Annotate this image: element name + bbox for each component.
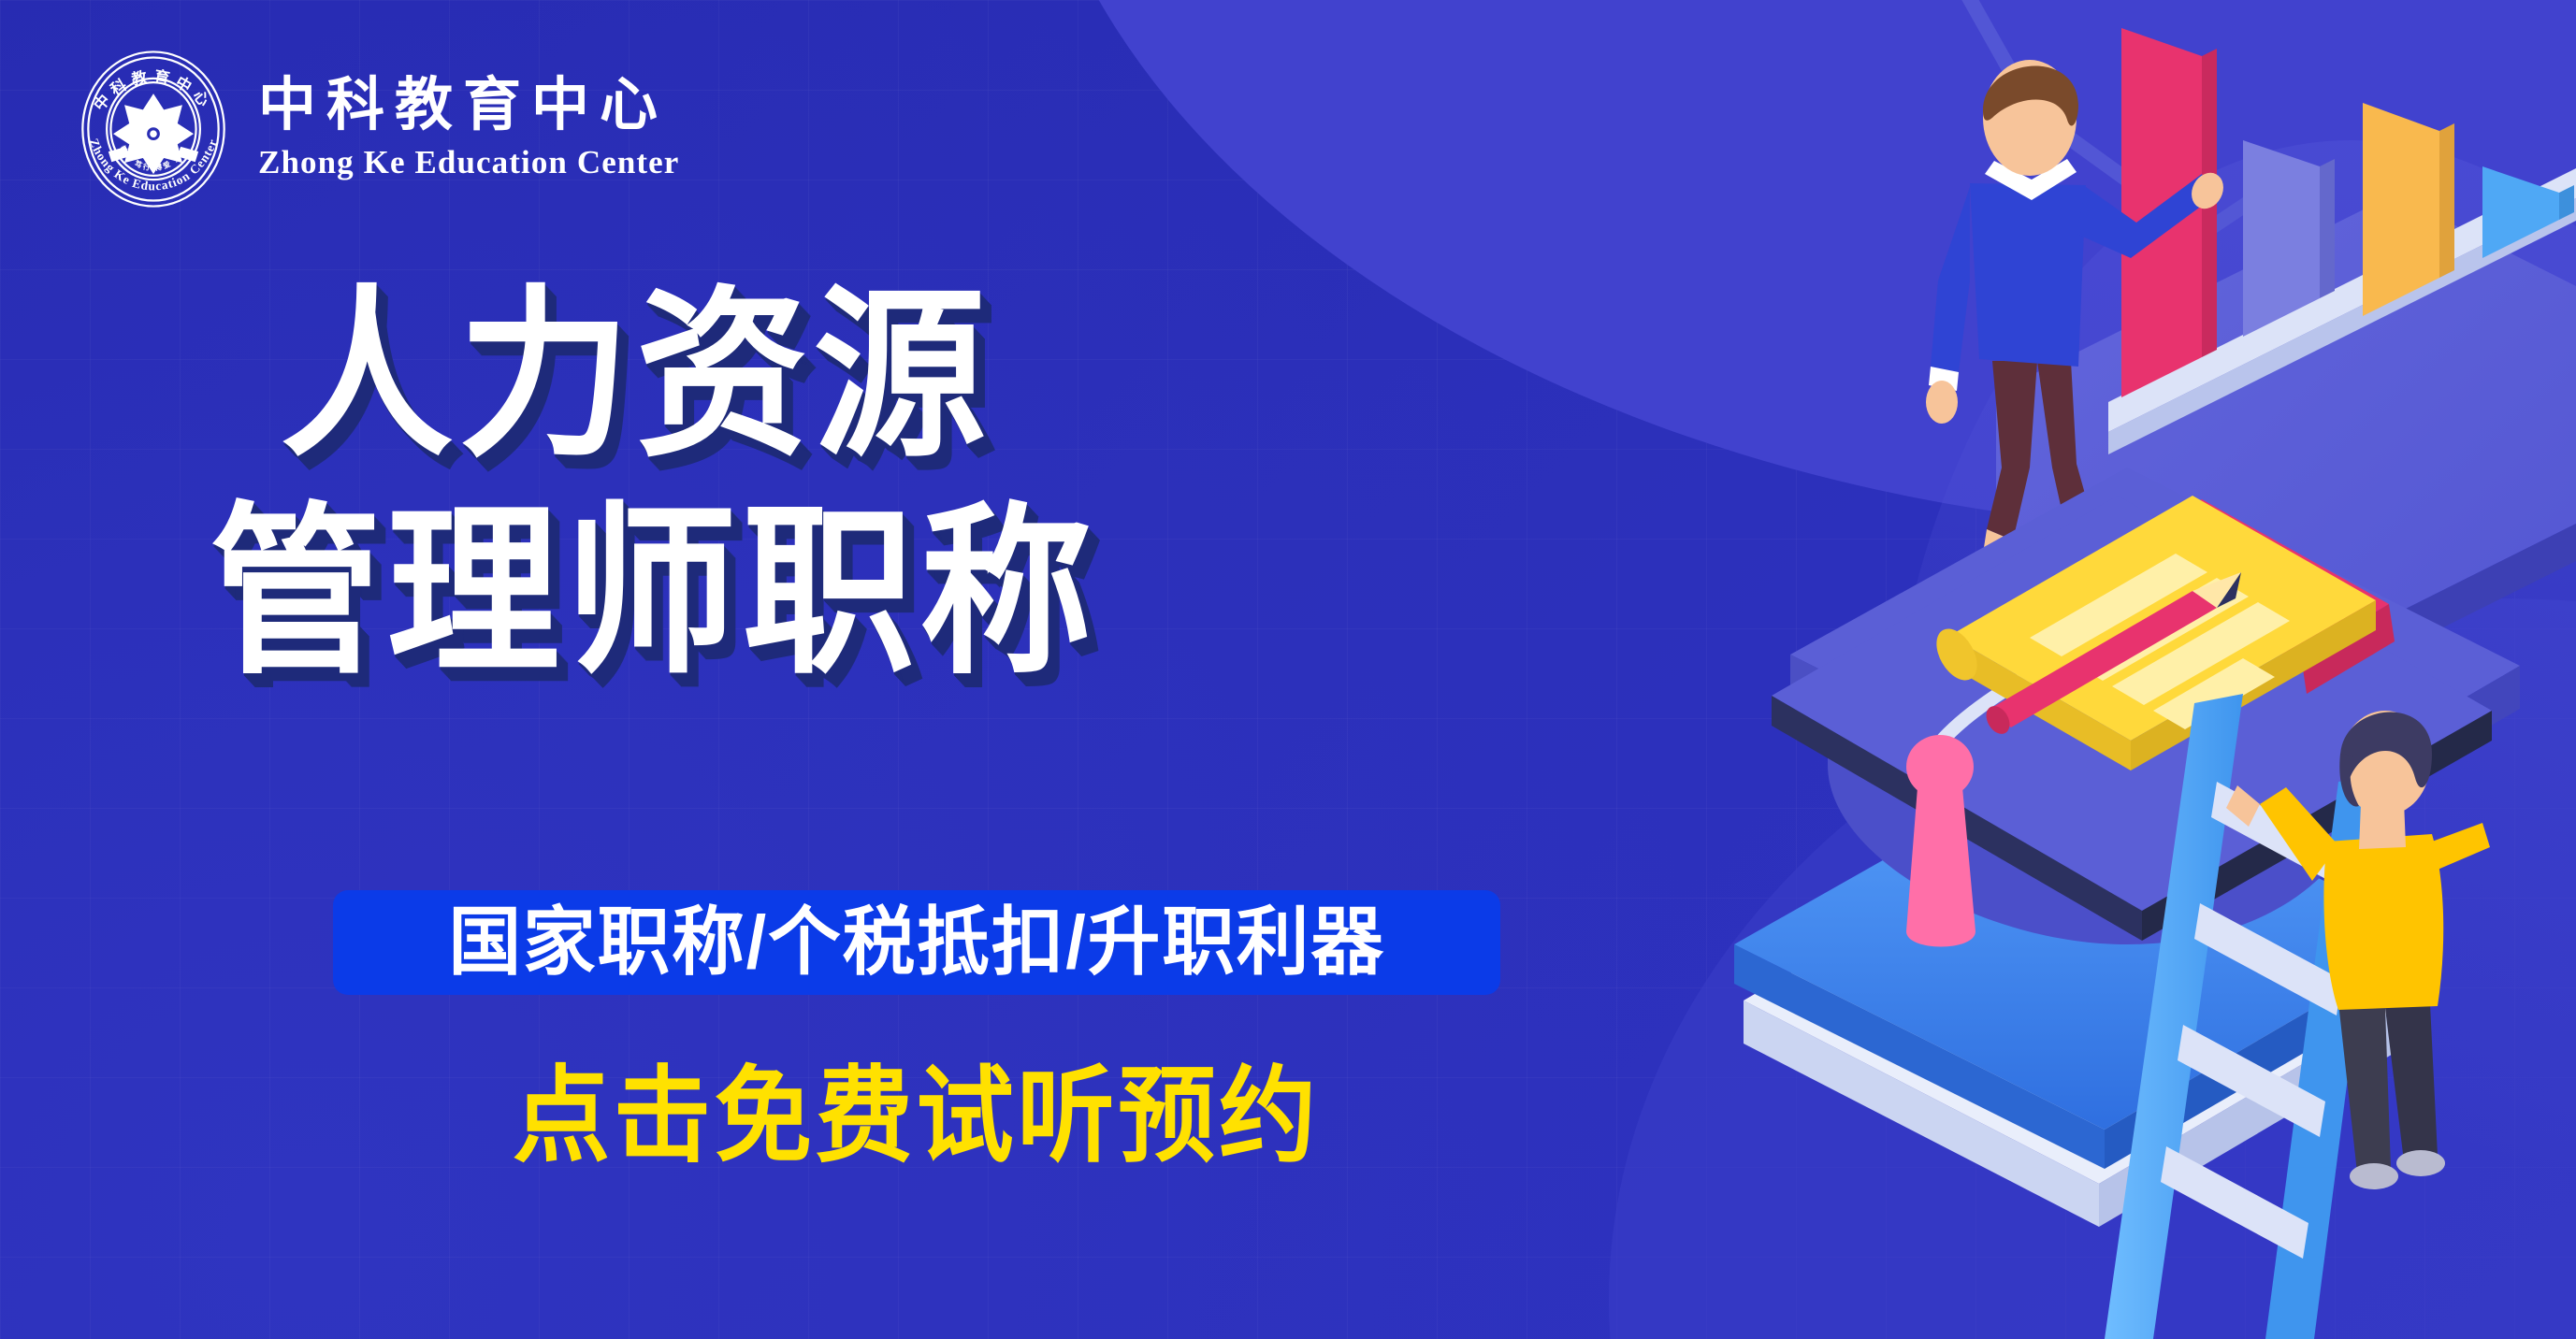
tagline-text: 国家职称/个税抵扣/升职利器	[448, 905, 1384, 980]
cta-label: 点击免费试听预约	[513, 1064, 1320, 1169]
cta-button[interactable]: 点击免费试听预约	[513, 1064, 1381, 1169]
headline-line-2: 管理师职称	[210, 497, 1097, 688]
promo-banner: 中科教育中心 Zhong Ke Education Center 敏思 笃行 博…	[0, 0, 2576, 1339]
brand-name-en: Zhong Ke Education Center	[258, 144, 679, 181]
brand-wordmark: 中科教育中心 Zhong Ke Education Center	[258, 77, 679, 180]
headline-line-1: 人力资源	[281, 281, 1102, 471]
brand-logo[interactable]: 中科教育中心 Zhong Ke Education Center 敏思 笃行 博…	[73, 49, 679, 209]
seal-emblem-icon: 中科教育中心 Zhong Ke Education Center 敏思 笃行 博…	[73, 49, 234, 209]
brand-name-cn: 中科教育中心	[258, 77, 679, 136]
tagline-bar: 国家职称/个税抵扣/升职利器	[333, 890, 1500, 995]
headline: 人力资源 管理师职称	[281, 281, 1154, 688]
